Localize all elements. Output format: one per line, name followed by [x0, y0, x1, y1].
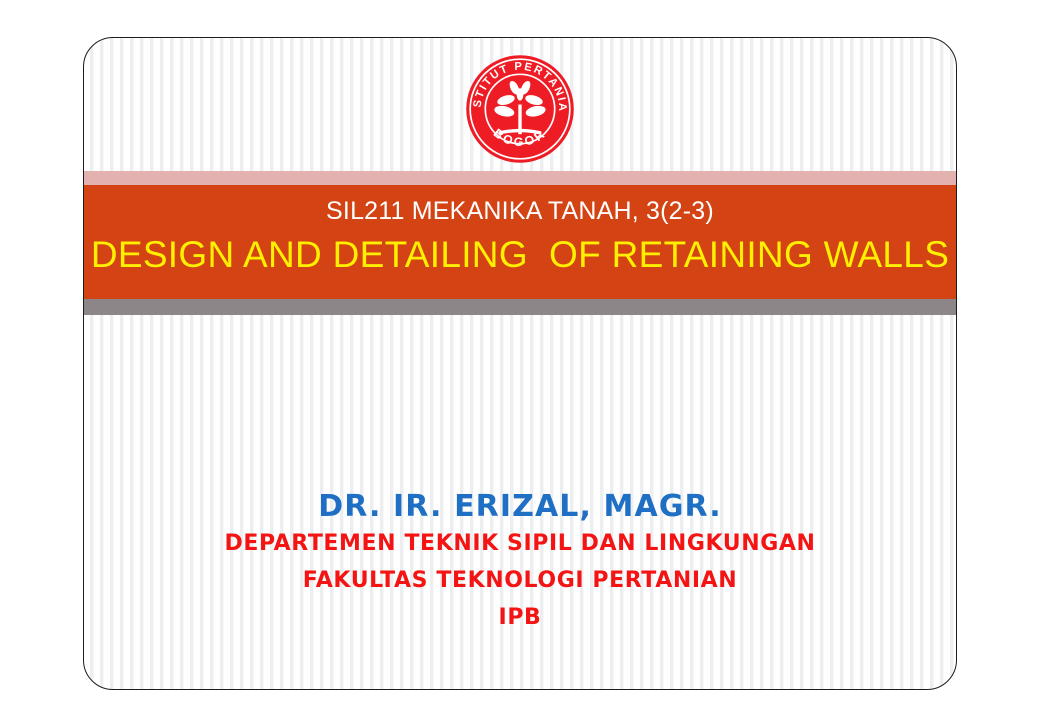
page-canvas: INSTITUT PERTANIAN BOGOR [0, 0, 1038, 728]
slide-title: DESIGN AND DETAILING OF RETAINING WALLS [84, 233, 956, 277]
affiliation-institution: IPB [84, 607, 956, 629]
banner-top-strip [84, 171, 956, 185]
banner-body: SIL211 MEKANIKA TANAH, 3(2-3) DESIGN AND… [84, 185, 956, 299]
author-name: DR. IR. ERIZAL, MAGR. [84, 490, 956, 523]
author-block: DR. IR. ERIZAL, MAGR. DEPARTEMEN TEKNIK … [84, 490, 956, 629]
banner-bottom-strip [84, 299, 956, 315]
title-banner: SIL211 MEKANIKA TANAH, 3(2-3) DESIGN AND… [84, 171, 956, 315]
presentation-slide: INSTITUT PERTANIAN BOGOR [83, 37, 957, 690]
ipb-seal-logo: INSTITUT PERTANIAN BOGOR [464, 53, 576, 165]
affiliation-department: DEPARTEMEN TEKNIK SIPIL DAN LINGKUNGAN [84, 533, 956, 555]
logo-container: INSTITUT PERTANIAN BOGOR [84, 53, 956, 165]
affiliation-faculty: FAKULTAS TEKNOLOGI PERTANIAN [84, 570, 956, 592]
course-code-line: SIL211 MEKANIKA TANAH, 3(2-3) [84, 196, 956, 227]
